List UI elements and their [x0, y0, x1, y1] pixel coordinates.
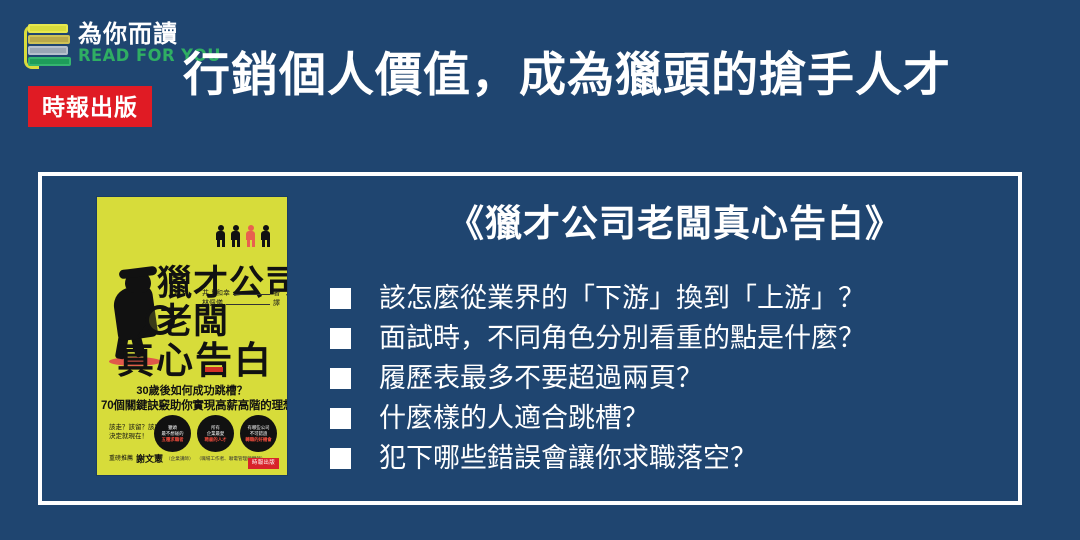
cover-badge: 所有 企業最愛 聘雇的人才 — [197, 415, 234, 452]
stacked-books-icon — [28, 24, 72, 66]
page-title: 行銷個人價值，成為獵頭的搶手人才 — [183, 44, 1063, 110]
bullet-square-icon — [330, 408, 351, 429]
brand-logo: 為你而讀 READ FOR YOU — [28, 22, 178, 66]
person-icon-highlight — [245, 225, 256, 247]
bullet-square-icon — [330, 328, 351, 349]
person-icon — [215, 225, 226, 247]
list-item-label: 履歷表最多不要超過兩頁？ — [379, 361, 703, 395]
cover-recommender-name: 謝文憲 — [136, 455, 163, 463]
bullet-square-icon — [330, 288, 351, 309]
person-icon — [260, 225, 271, 247]
list-item: 履歷表最多不要超過兩頁？ — [330, 358, 1020, 398]
list-item-label: 該怎麼從業界的「下游」換到「上游」？ — [379, 281, 865, 315]
cover-title-line3-text: 真心告白 — [117, 340, 273, 381]
cover-translator-role: 譯 — [273, 299, 280, 309]
list-item: 面試時，不同角色分別看重的點是什麼？ — [330, 318, 1020, 358]
book-cover-image: 獵才公司 老闆 真心告白 井上和幸著 林佩儀譯 30歲後如何成功跳槽？ 70個關… — [97, 197, 287, 475]
cover-badge-highlight: 轉職的好機會 — [245, 437, 271, 443]
brand-block: 為你而讀 READ FOR YOU — [28, 22, 178, 66]
list-item: 該怎麼從業界的「下游」換到「上游」？ — [330, 278, 1020, 318]
book-layer-3 — [28, 46, 68, 55]
cover-recommender: 重磅推薦 謝文憲 （企業講師） （職場工作者、聯電管理顧問師） — [109, 455, 266, 463]
cover-translator-name: 林佩儀 — [202, 299, 223, 309]
book-layer-4 — [28, 57, 71, 66]
cover-underline-mark — [205, 367, 223, 372]
cover-author-block: 井上和幸著 林佩儀譯 — [202, 289, 280, 309]
cover-author-role: 著 — [273, 289, 280, 299]
cover-publisher-mark: 時報出版 — [248, 458, 279, 469]
book-title-heading: 《獵才公司老闆真心告白》 — [330, 200, 1020, 248]
list-item-label: 什麼樣的人適合跳槽？ — [379, 401, 649, 435]
slide-root: 為你而讀 READ FOR YOU 時報出版 行銷個人價值，成為獵頭的搶手人才 — [0, 0, 1080, 540]
cover-recommender-label: 重磅推薦 — [109, 455, 133, 463]
bullet-list: 該怎麼從業界的「下游」換到「上游」？ 面試時，不同角色分別看重的點是什麼？ 履歷… — [330, 278, 1020, 478]
cover-badge-highlight: 五種求職者 — [162, 437, 184, 443]
book-layer-2 — [28, 35, 70, 44]
cover-recommender-title: （企業講師） — [166, 455, 194, 463]
cover-badges: 獵頭 最不想碰的 五種求職者 所有 企業最愛 聘雇的人才 有哪些公司 不可錯過 … — [154, 415, 277, 452]
cover-badge-highlight: 聘雇的人才 — [205, 437, 227, 443]
cover-badge: 獵頭 最不想碰的 五種求職者 — [154, 415, 191, 452]
cover-subtitle-2: 70個關鍵訣竅助你實現高薪高階的理想職涯！ — [101, 399, 283, 413]
publisher-stamp-label: 時報出版 — [42, 95, 138, 119]
bullet-square-icon — [330, 448, 351, 469]
book-layer-1 — [28, 24, 68, 33]
cover-subtitle-1: 30歲後如何成功跳槽？ — [107, 385, 277, 398]
publisher-stamp: 時報出版 — [28, 86, 152, 127]
list-item-label: 犯下哪些錯誤會讓你求職落空？ — [379, 441, 757, 475]
list-item: 什麼樣的人適合跳槽？ — [330, 398, 1020, 438]
bullet-square-icon — [330, 368, 351, 389]
cover-badge: 有哪些公司 不可錯過 轉職的好機會 — [240, 415, 277, 452]
list-item-label: 面試時，不同角色分別看重的點是什麼？ — [379, 321, 865, 355]
cover-author-name: 井上和幸 — [202, 289, 230, 299]
people-row-icon — [215, 225, 271, 247]
list-item: 犯下哪些錯誤會讓你求職落空？ — [330, 438, 1020, 478]
cover-title-line3: 真心告白 — [109, 341, 281, 380]
person-icon — [230, 225, 241, 247]
